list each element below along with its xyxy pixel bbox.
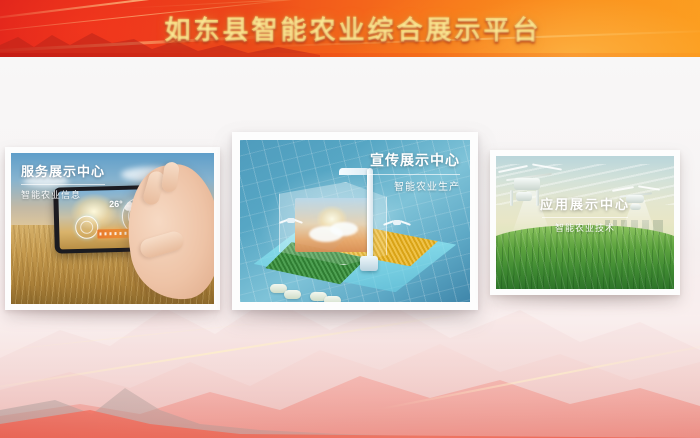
card-service-image: 26° 服务展示中心 智能农业信息 [11, 153, 214, 304]
card-service-caption: 服务展示中心 智能农业信息 [21, 161, 105, 201]
card-application-title: 应用展示中心 [496, 194, 674, 213]
card-application-subtitle: 智能农业技术 [496, 221, 674, 234]
caption-divider [542, 217, 628, 218]
lamp-base [360, 256, 378, 271]
drone-icon [281, 215, 301, 225]
page-title: 如东县智能农业综合展示平台 [0, 0, 700, 57]
green-crop-field [496, 225, 674, 289]
hud-reticle-small [75, 216, 99, 240]
card-application-image: 应用展示中心 智能农业技术 [496, 156, 674, 289]
card-application-caption: 应用展示中心 智能农业技术 [496, 194, 674, 234]
card-service-subtitle: 智能农业信息 [21, 188, 105, 201]
header-banner: 如东县智能农业综合展示平台 [0, 0, 700, 57]
card-application-center[interactable]: 应用展示中心 智能农业技术 [490, 150, 680, 295]
card-promotion-subtitle: 智能农业生产 [368, 178, 460, 193]
hay-rolls [270, 274, 353, 292]
drone-icon [385, 216, 409, 228]
caption-divider [21, 184, 105, 185]
card-service-center[interactable]: 26° 服务展示中心 智能农业信息 [5, 147, 220, 310]
caption-divider [368, 174, 460, 175]
sky-projection [295, 198, 373, 251]
cloud [330, 222, 358, 236]
card-promotion-caption: 宣传展示中心 智能农业生产 [368, 150, 460, 193]
card-service-title: 服务展示中心 [21, 161, 105, 180]
card-promotion-image: 宣传展示中心 智能农业生产 [240, 140, 470, 302]
card-promotion-center[interactable]: 宣传展示中心 智能农业生产 [232, 132, 478, 310]
app-root: 如东县智能农业综合展示平台 26° [0, 0, 700, 438]
card-promotion-title: 宣传展示中心 [368, 150, 460, 170]
hud-temperature: 26° [109, 199, 123, 209]
